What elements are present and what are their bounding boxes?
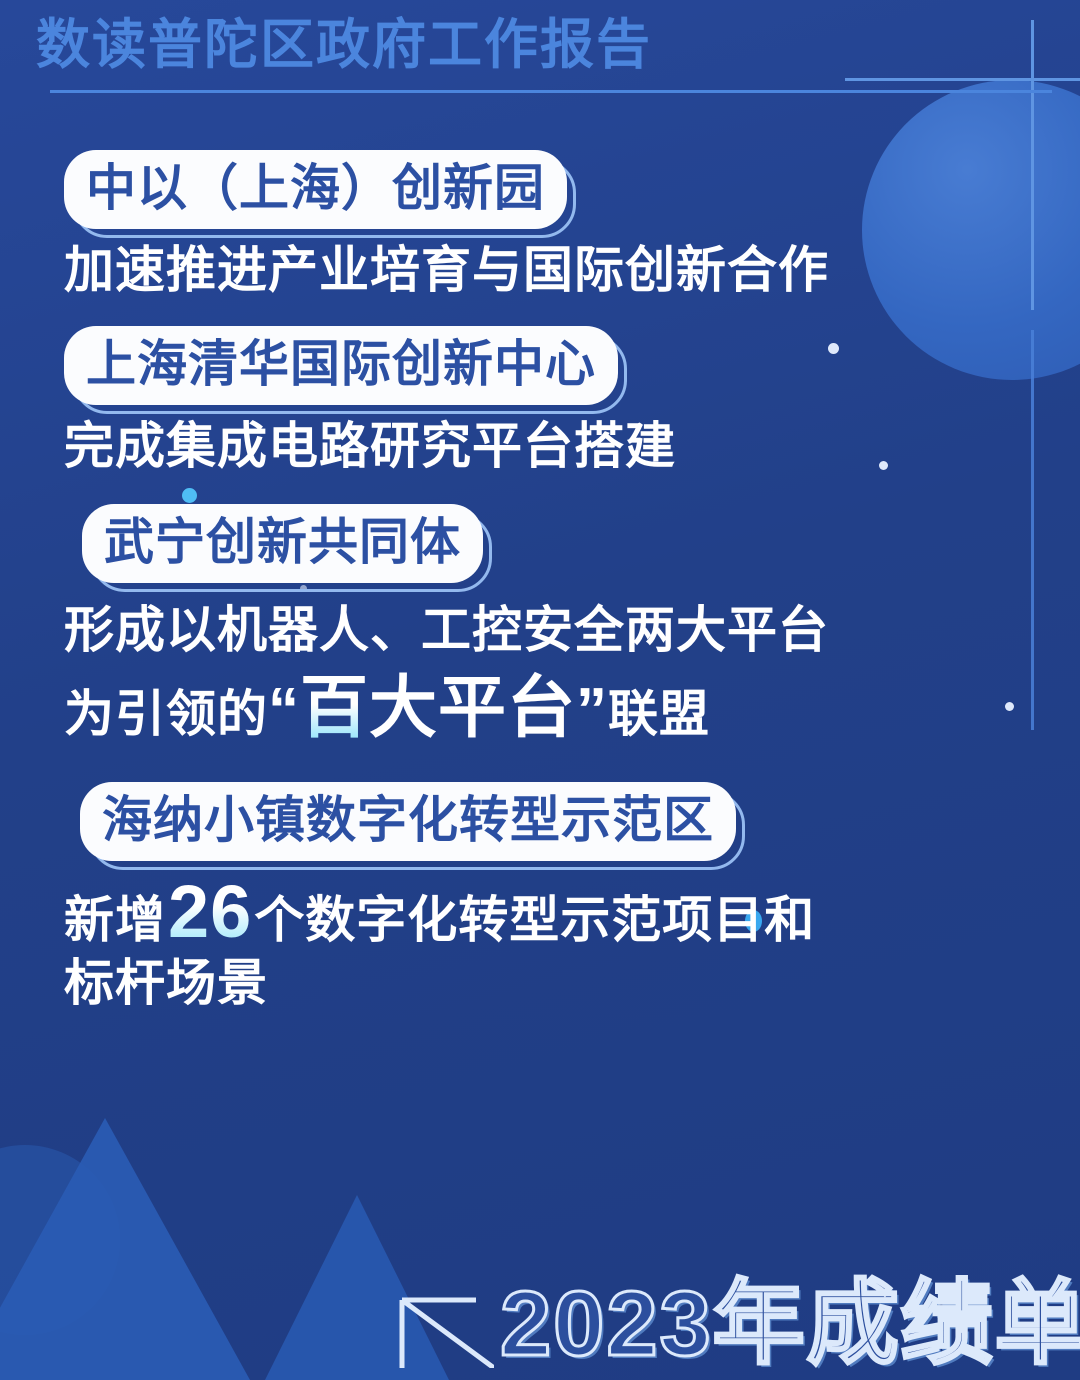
page-title: 数读普陀区政府工作报告 [36, 14, 652, 76]
content-block-2: 上海清华国际创新中心 完成集成电路研究平台搭建 [64, 326, 1024, 478]
horizontal-accent-line [845, 78, 1080, 81]
highlight-character: 百 [300, 670, 369, 746]
badge-label-2: 上海清华国际创新中心 [64, 326, 618, 405]
poster-header: 数读普陀区政府工作报告 [36, 14, 1056, 76]
vertical-accent-line-bottom [1031, 330, 1034, 730]
emphasis-text: 大平台 [369, 670, 576, 746]
close-quote: ” [576, 676, 608, 745]
line-prefix: 新增 [64, 892, 166, 948]
badge-label-3: 武宁创新共同体 [82, 504, 483, 583]
body-line-2-1: 完成集成电路研究平台搭建 [64, 415, 1024, 478]
content-area: 中以（上海）创新园 加速推进产业培育与国际创新合作 上海清华国际创新中心 完成集… [64, 150, 1024, 1025]
stat-number: 26 [166, 870, 254, 953]
line-suffix: 联盟 [608, 686, 710, 742]
body-line-3-1: 形成以机器人、工控安全两大平台 [64, 599, 1024, 662]
body-line-3-2: 为引领的“百大平台”联盟 [64, 666, 1024, 752]
line-suffix: 个数字化转型示范项目和 [254, 892, 815, 948]
body-line-4-2: 标杆场景 [64, 952, 1024, 1015]
badge-wrapper: 武宁创新共同体 [82, 504, 483, 583]
body-line-4-1: 新增26个数字化转型示范项目和 [64, 879, 1024, 952]
content-block-4: 海纳小镇数字化转型示范区 新增26个数字化转型示范项目和 标杆场景 [64, 782, 1024, 1015]
badge-wrapper: 中以（上海）创新园 [64, 150, 567, 229]
open-quote: “ [268, 676, 300, 745]
content-block-3: 武宁创新共同体 形成以机器人、工控安全两大平台 为引领的“百大平台”联盟 [64, 504, 1024, 752]
badge-label-1: 中以（上海）创新园 [64, 150, 567, 229]
footer-title: 2023年成绩单 [500, 1276, 1080, 1373]
corner-arrow-icon [398, 1296, 494, 1368]
body-line-1-1: 加速推进产业培育与国际创新合作 [64, 239, 1024, 302]
infographic-poster: 数读普陀区政府工作报告 中以（上海）创新园 加速推进产业培育与国际创新合作 上海… [0, 0, 1080, 1380]
badge-label-4: 海纳小镇数字化转型示范区 [80, 782, 736, 861]
header-underline [50, 90, 1052, 93]
badge-wrapper: 上海清华国际创新中心 [64, 326, 618, 405]
line-prefix: 为引领的 [64, 686, 268, 742]
content-block-1: 中以（上海）创新园 加速推进产业培育与国际创新合作 [64, 150, 1024, 302]
badge-wrapper: 海纳小镇数字化转型示范区 [80, 782, 736, 861]
